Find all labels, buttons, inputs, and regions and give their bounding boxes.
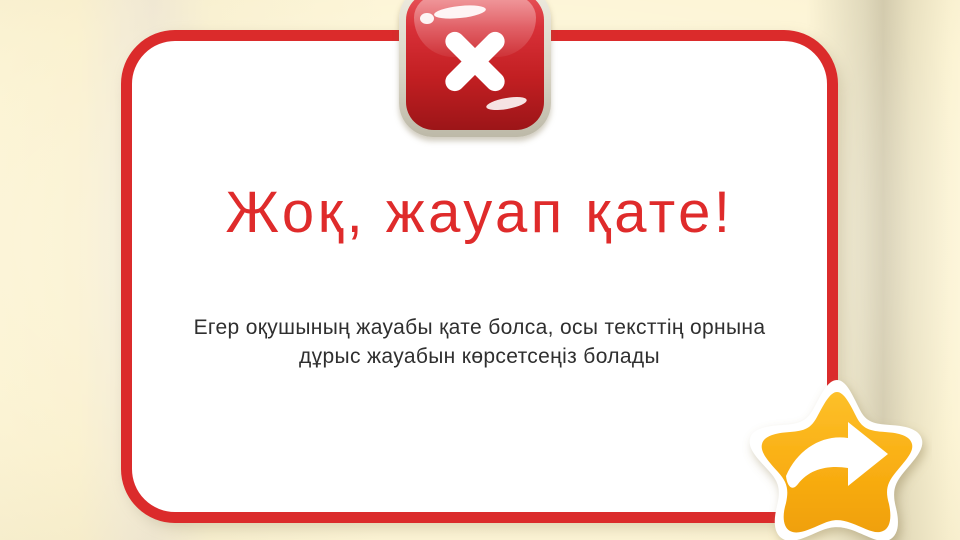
page-title: Жоқ, жауап қате! [226,181,734,245]
x-mark-badge-icon [399,0,551,137]
star-arrow-badge-icon[interactable] [742,372,932,540]
close-icon [406,0,544,130]
card-body-text: Егер оқушының жауабы қате болса, осы тек… [180,313,780,373]
slide-canvas: SLIDESMANIA Жоқ, жауап қате! Егер оқушын… [0,0,960,540]
badge-face [406,0,544,130]
